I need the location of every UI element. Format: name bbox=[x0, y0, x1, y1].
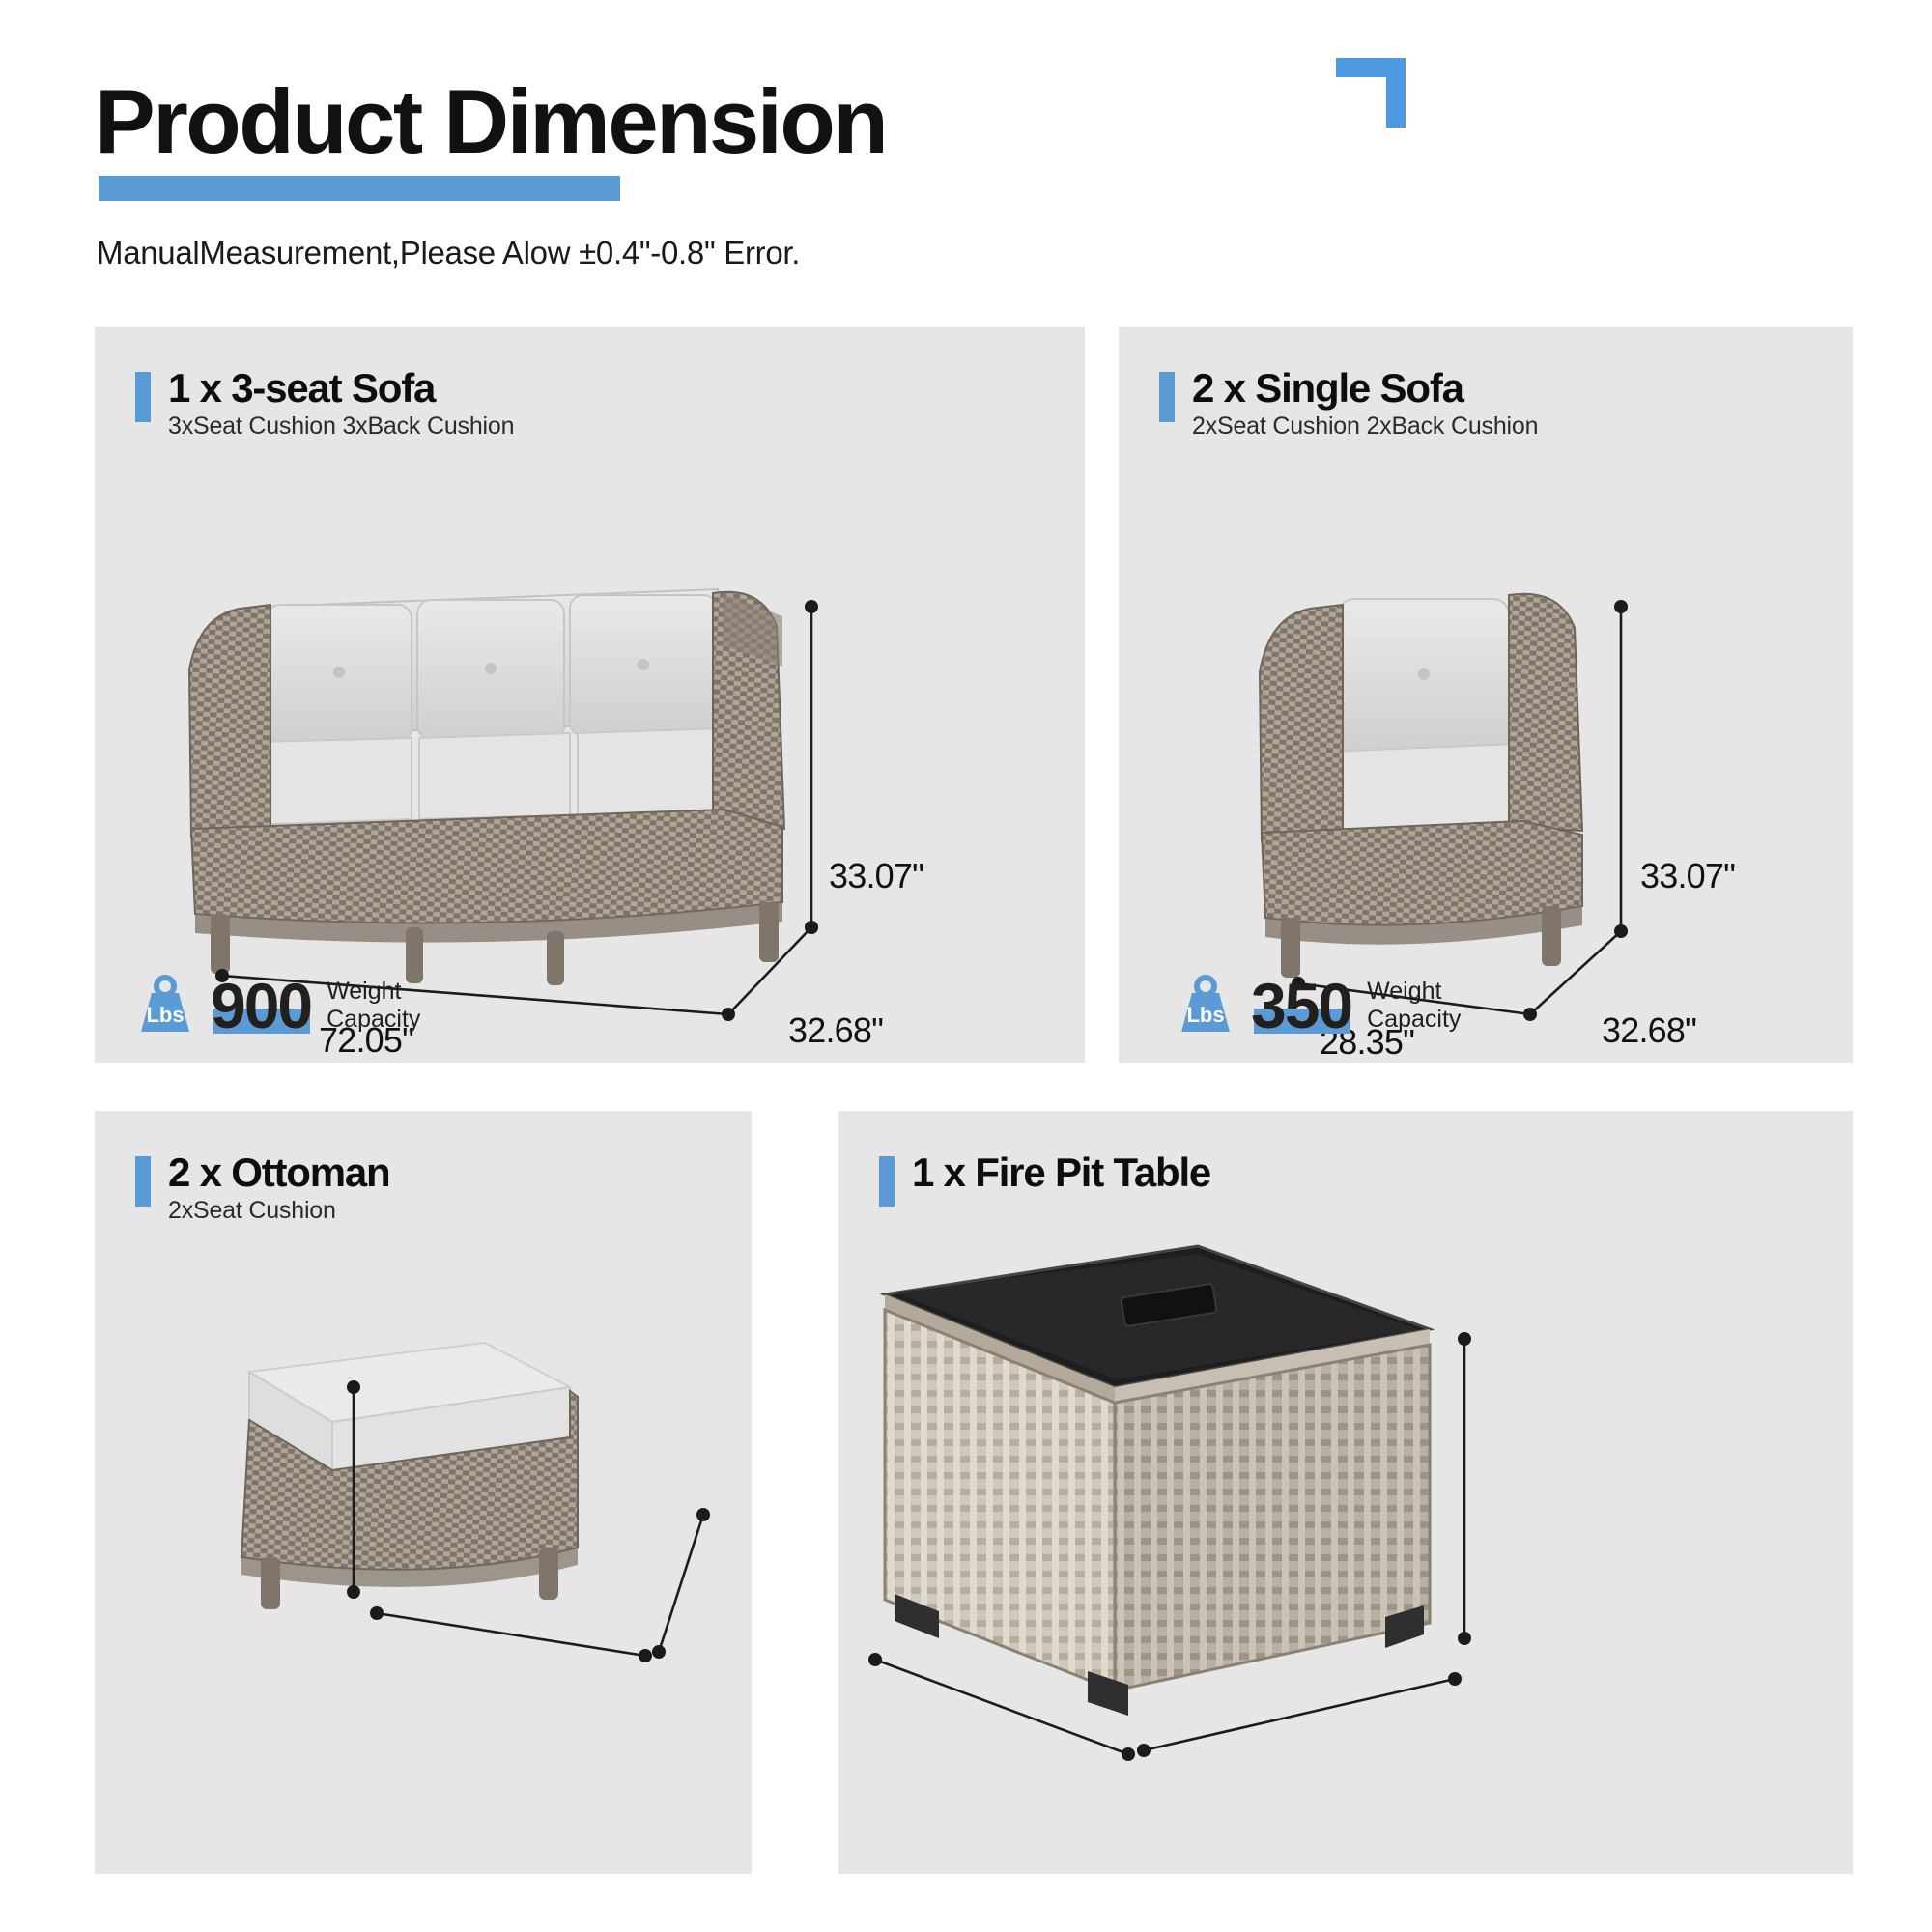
weight-caption-line2: Capacity bbox=[327, 1006, 420, 1035]
header: Product Dimension bbox=[95, 75, 1853, 168]
panel-fire-pit-table: 1 x Fire Pit Table bbox=[838, 1111, 1853, 1874]
title-row: Product Dimension bbox=[95, 75, 886, 168]
title-underline-accent bbox=[99, 176, 620, 201]
weight-caption: Weight Capacity bbox=[327, 978, 420, 1035]
weight-value: 900 bbox=[211, 974, 311, 1037]
weight-caption-line1: Weight bbox=[327, 978, 420, 1007]
weight-caption-line1: Weight bbox=[1367, 978, 1461, 1007]
lbs-weight-icon: Lbs bbox=[1174, 974, 1237, 1037]
weight-caption-line2: Capacity bbox=[1367, 1006, 1461, 1035]
dim-height: 33.07" bbox=[829, 856, 923, 896]
panel-ottoman: 2 x Ottoman 2xSeat Cushion 16.93 bbox=[95, 1111, 752, 1874]
lbs-weight-icon: Lbs bbox=[133, 974, 197, 1037]
weight-capacity-badge-single: Lbs 350 Weight Capacity bbox=[1174, 974, 1461, 1037]
weight-caption: Weight Capacity bbox=[1367, 978, 1461, 1035]
single-sofa-illustration bbox=[1119, 327, 1853, 1063]
measurement-note: ManualMeasurement,Please Alow ±0.4"-0.8"… bbox=[97, 235, 800, 271]
sofa-illustration bbox=[95, 327, 1085, 1063]
product-dimension-infographic: Product Dimension ManualMeasurement,Plea… bbox=[0, 0, 1932, 1932]
panel-3-seat-sofa: 1 x 3-seat Sofa 3xSeat Cushion 3xBack Cu… bbox=[95, 327, 1085, 1063]
page-title: Product Dimension bbox=[95, 75, 886, 168]
lbs-icon-label: Lbs bbox=[1186, 1003, 1224, 1027]
dim-depth: 32.68" bbox=[788, 1010, 883, 1051]
panel-single-sofa: 2 x Single Sofa 2xSeat Cushion 2xBack Cu… bbox=[1119, 327, 1853, 1063]
weight-value-wrap: 900 bbox=[211, 974, 311, 1037]
ottoman-illustration bbox=[95, 1111, 752, 1874]
dim-height: 33.07" bbox=[1640, 856, 1735, 896]
weight-value: 350 bbox=[1251, 974, 1351, 1037]
corner-bracket-icon bbox=[1336, 58, 1406, 128]
weight-value-wrap: 350 bbox=[1251, 974, 1351, 1037]
dim-depth: 32.68" bbox=[1602, 1010, 1696, 1051]
fire-pit-illustration bbox=[838, 1111, 1853, 1874]
lbs-icon-label: Lbs bbox=[146, 1003, 184, 1027]
weight-capacity-badge-sofa: Lbs 900 Weight Capacity bbox=[133, 974, 420, 1037]
